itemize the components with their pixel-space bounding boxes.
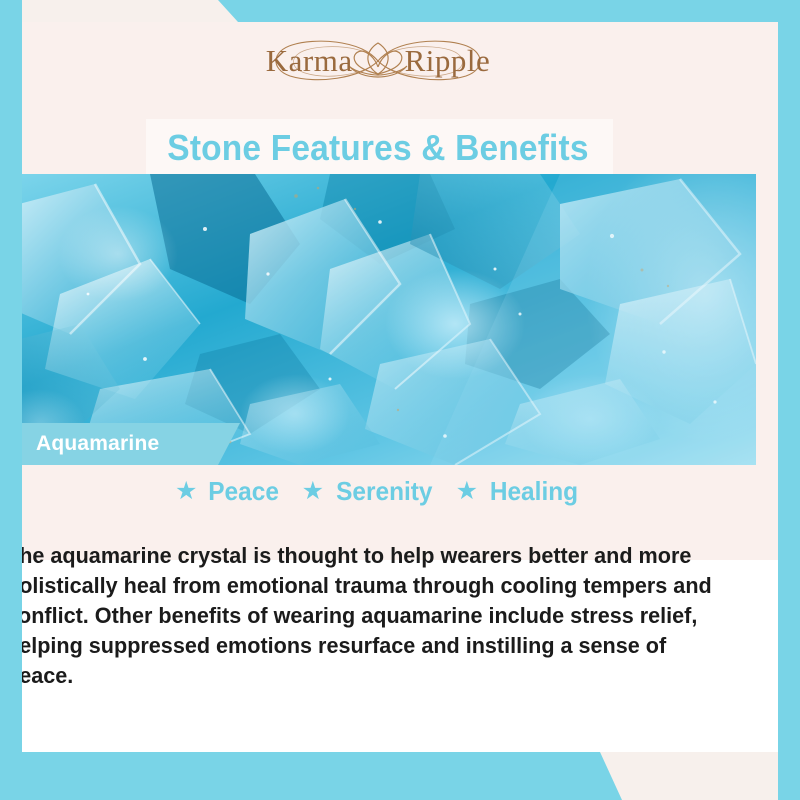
stone-name-tag: Aquamarine (0, 423, 240, 465)
stone-photo: Aquamarine (0, 174, 756, 465)
bottom-accent-band (0, 752, 622, 800)
keyword-label: Peace (209, 476, 280, 507)
right-accent-band (778, 0, 800, 800)
aquamarine-crystal-cluster-illustration (0, 174, 756, 465)
keyword-item-peace: ★ Peace (175, 476, 282, 507)
star-icon: ★ (456, 479, 478, 504)
top-accent-band (218, 0, 800, 22)
footer-white-strip (22, 690, 778, 752)
keyword-list: ★ Peace ★ Serenity ★ Healing (0, 476, 756, 507)
brand-logo: Karma Ripple (0, 18, 756, 104)
description-paragraph: The aquamarine crystal is thought to hel… (6, 541, 724, 691)
brand-name-right: Ripple (405, 43, 491, 79)
page-title: Stone Features & Benefits (26, 119, 729, 177)
keyword-label: Serenity (336, 476, 432, 507)
keyword-label: Healing (490, 476, 578, 507)
left-accent-band (0, 0, 22, 800)
infographic-card: Karma Ripple Stone Features & Benefits (0, 0, 800, 800)
brand-name-left: Karma (266, 43, 353, 79)
keyword-item-healing: ★ Healing (456, 476, 581, 507)
star-icon: ★ (302, 479, 324, 504)
star-icon: ★ (175, 479, 197, 504)
stone-name-label: Aquamarine (36, 432, 159, 456)
keyword-item-serenity: ★ Serenity (302, 476, 436, 507)
